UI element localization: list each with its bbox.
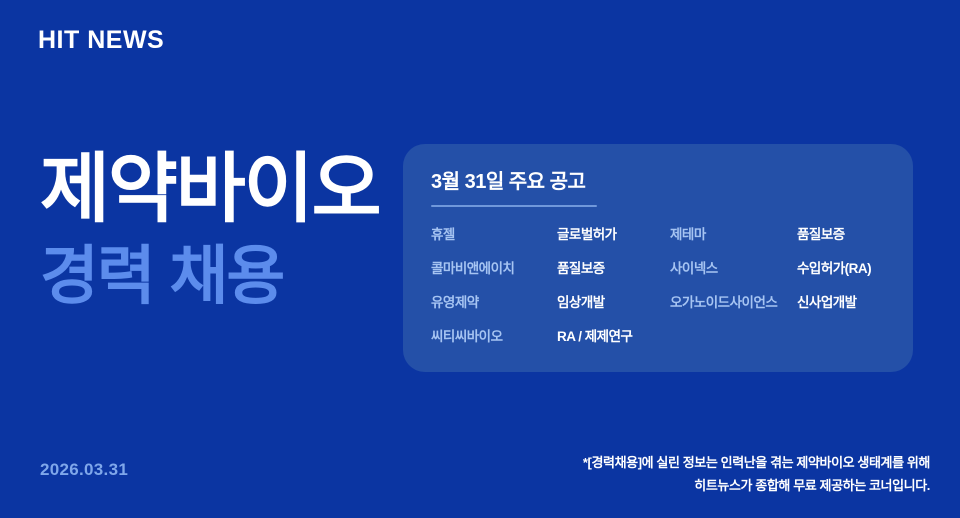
page-title: 제약바이오 경력 채용	[40, 152, 380, 308]
table-cell-company: 콜마비앤에이치	[431, 257, 557, 277]
card-title: 3월 31일 주요 공고	[431, 172, 885, 192]
table-cell-role: 품질보증	[557, 257, 670, 277]
table-cell-company: 유영제약	[431, 291, 557, 311]
job-listings-table: 휴젤 글로벌허가 제테마 품질보증 콜마비앤에이치 품질보증 사이넥스 수입허가…	[431, 223, 885, 345]
brand-logo-hit-news: HIT NEWS	[38, 28, 164, 53]
table-cell-company: 오가노이드사이언스	[670, 291, 797, 311]
poster-canvas: HIT NEWS 제약바이오 경력 채용 3월 31일 주요 공고 휴젤 글로벌…	[0, 0, 960, 518]
table-cell-company: 휴젤	[431, 223, 557, 243]
table-cell-role: 글로벌허가	[557, 223, 670, 243]
table-cell-role: RA / 제제연구	[557, 325, 670, 345]
publish-date: 2026.03.31	[40, 461, 128, 478]
card-title-divider	[431, 205, 597, 207]
headline-line-secondary: 경력 채용	[40, 244, 380, 308]
table-cell-role: 수입허가(RA)	[797, 257, 885, 277]
headline-line-primary: 제약바이오	[40, 152, 380, 228]
table-cell-role: 품질보증	[797, 223, 885, 243]
table-cell-role: 신사업개발	[797, 291, 885, 311]
footer-disclaimer-line-2: 히트뉴스가 종합해 무료 제공하는 코너입니다.	[583, 475, 930, 498]
table-cell-company: 사이넥스	[670, 257, 797, 277]
footer-disclaimer-line-1: *[경력채용]에 실린 정보는 인력난을 겪는 제약바이오 생태계를 위해	[583, 452, 930, 475]
job-listings-card: 3월 31일 주요 공고 휴젤 글로벌허가 제테마 품질보증 콜마비앤에이치 품…	[403, 144, 913, 372]
footer-disclaimer: *[경력채용]에 실린 정보는 인력난을 겪는 제약바이오 생태계를 위해 히트…	[583, 452, 930, 498]
table-cell-role: 임상개발	[557, 291, 670, 311]
table-cell-company: 씨티씨바이오	[431, 325, 557, 345]
table-cell-company: 제테마	[670, 223, 797, 243]
